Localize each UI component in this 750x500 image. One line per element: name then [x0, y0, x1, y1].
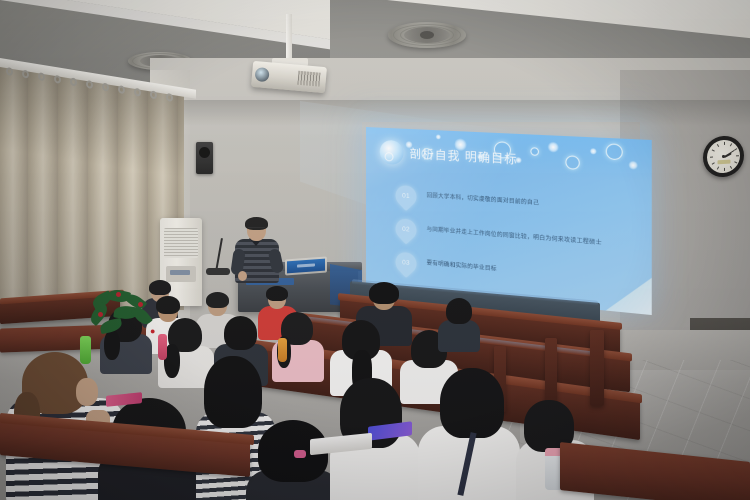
attendee-hair — [446, 298, 472, 324]
bullet-number: 03 — [396, 252, 417, 275]
ceiling-speaker-right — [388, 22, 466, 48]
bullet-number: 01 — [396, 185, 417, 208]
attendee-hair — [440, 368, 504, 438]
bullet-text: 回顾大学本科，切实虔敬的面对目前的自己 — [427, 191, 540, 207]
ac-vent-grill — [164, 228, 198, 258]
microphone-base — [206, 268, 230, 275]
eyeglasses-icon — [248, 227, 265, 231]
hair-tie — [294, 450, 306, 458]
clock-center-pin — [722, 155, 725, 158]
clock-face — [707, 139, 740, 174]
bench-end-panel — [545, 338, 557, 408]
projector-vents — [297, 71, 320, 87]
attendee-hair — [369, 282, 399, 304]
wall-mounted-speaker — [196, 142, 213, 174]
attendee-hair — [224, 316, 257, 350]
ac-brand-badge — [170, 270, 190, 275]
potted-plant — [86, 290, 158, 342]
projector-mount-pole — [286, 14, 292, 62]
attendee-hair — [204, 356, 262, 428]
attendee-hair — [156, 296, 180, 314]
slide-logo-icon — [380, 140, 404, 165]
wall-top-shadow — [150, 100, 750, 126]
flower-icon — [116, 292, 121, 297]
attendee-torso — [438, 320, 480, 352]
attendee-hair — [266, 286, 288, 301]
flower-icon — [98, 312, 103, 317]
wall-clock — [703, 135, 744, 178]
list-item — [438, 298, 480, 350]
list-item — [246, 420, 342, 500]
lecture-hall-photo: 剖析自我 明确目标 01 回顾大学本科，切实虔敬的面对目前的自己 02 与同期毕… — [0, 0, 750, 500]
bench-end-panel — [590, 330, 604, 406]
clock-brand-mark — [717, 159, 730, 164]
projector-lens-icon — [255, 67, 270, 82]
bullet-text: 要有明确和实际的毕业目标 — [427, 258, 497, 272]
attendee-hair — [206, 292, 229, 308]
laptop-screen — [287, 259, 325, 274]
attendee-head — [76, 378, 98, 406]
presenter-hand — [238, 271, 247, 281]
pink-water-bottle — [158, 334, 167, 360]
flower-icon — [138, 302, 143, 307]
presenter-laptop[interactable] — [285, 257, 327, 276]
presenter — [232, 219, 282, 281]
orange-bottle — [278, 338, 287, 362]
list-item — [418, 368, 522, 500]
bullet-number: 02 — [396, 218, 417, 241]
